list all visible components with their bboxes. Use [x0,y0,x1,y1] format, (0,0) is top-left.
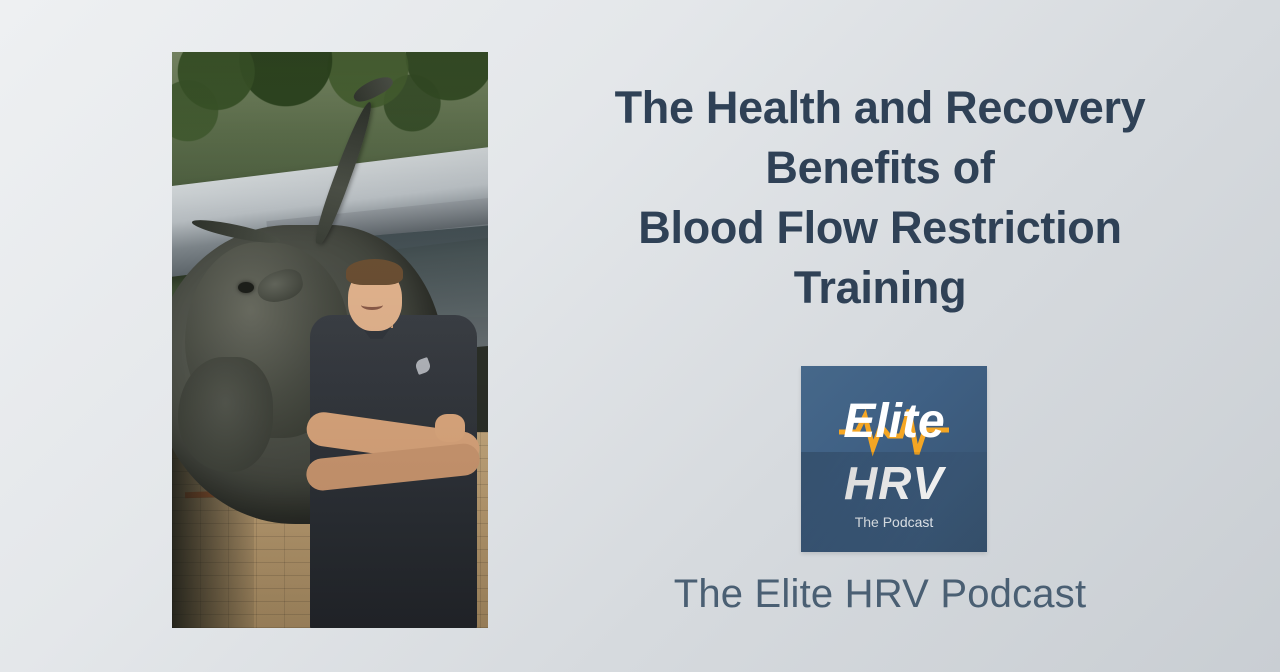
elite-hrv-logo: Elite HRV The Podcast [801,366,987,552]
logo-brand-bottom: HRV [801,456,987,510]
logo-tagline: The Podcast [801,514,987,530]
episode-title-line-3: Blood Flow Restriction [530,198,1230,258]
podcast-name: The Elite HRV Podcast [530,572,1230,617]
episode-title-line-1: The Health and Recovery [530,78,1230,138]
photo-vignette [172,52,488,628]
episode-title-line-2: Benefits of [530,138,1230,198]
logo-brand-top: Elite [801,394,987,449]
episode-title-line-4: Training [530,258,1230,318]
logo-inner: Elite HRV The Podcast [801,366,987,552]
podcast-episode-slide: The Health and Recovery Benefits of Bloo… [0,0,1280,672]
guest-photo [172,52,488,628]
photo-content [172,52,488,628]
episode-title: The Health and Recovery Benefits of Bloo… [530,78,1230,317]
